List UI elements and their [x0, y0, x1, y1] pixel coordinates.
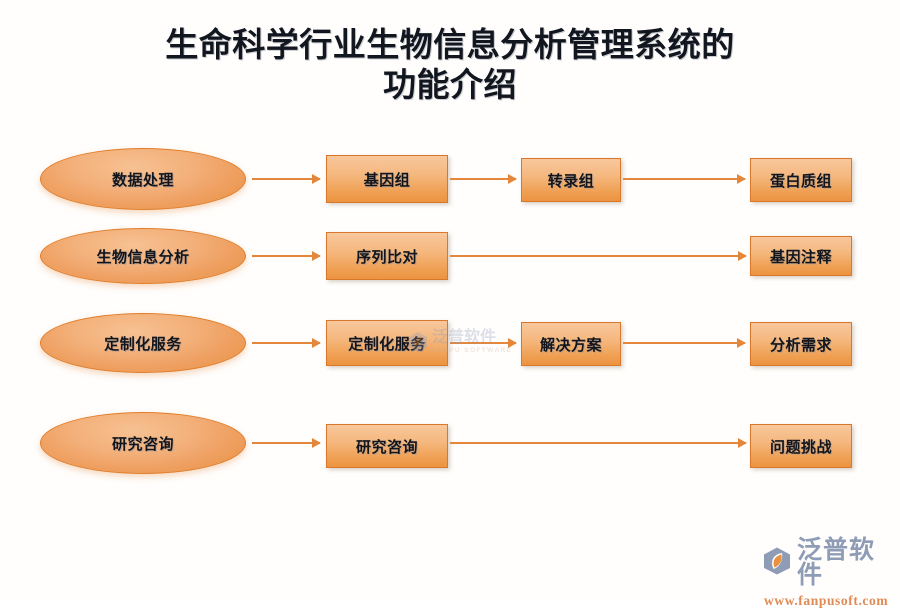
connector-row-4-b — [450, 442, 746, 444]
connector-row-3-a — [252, 342, 320, 344]
brand-logo: 泛普软件 www.fanpusoft.com — [762, 538, 900, 609]
connector-row-2-b — [450, 255, 746, 257]
category-node-row-3[interactable]: 定制化服务 — [40, 313, 246, 373]
node-label: 研究咨询 — [356, 436, 418, 457]
page-title: 生命科学行业生物信息分析管理系统的 功能介绍 — [0, 26, 900, 107]
step-node-row-4-2[interactable]: 问题挑战 — [750, 424, 852, 468]
step-node-row-3-1[interactable]: 定制化服务 — [326, 320, 448, 366]
fanpu-logo-icon — [762, 546, 792, 581]
connector-row-3-c — [623, 342, 745, 344]
connector-row-1-b — [450, 178, 516, 180]
node-label: 转录组 — [548, 170, 595, 191]
title-line-2: 功能介绍 — [0, 66, 900, 106]
step-node-row-1-1[interactable]: 基因组 — [326, 155, 448, 203]
connector-row-1-c — [623, 178, 745, 180]
node-label: 生物信息分析 — [96, 246, 189, 267]
category-node-row-2[interactable]: 生物信息分析 — [40, 228, 246, 284]
connector-row-1-a — [252, 178, 320, 180]
node-label: 分析需求 — [770, 334, 832, 355]
node-label: 研究咨询 — [112, 433, 174, 454]
connector-row-4-a — [252, 442, 320, 444]
brand-url: www.fanpusoft.com — [764, 593, 888, 609]
brand-name: 泛普软件 — [797, 538, 900, 588]
node-label: 蛋白质组 — [770, 170, 832, 191]
step-node-row-3-3[interactable]: 分析需求 — [750, 322, 852, 366]
node-label: 序列比对 — [356, 246, 418, 267]
step-node-row-1-3[interactable]: 蛋白质组 — [750, 158, 852, 202]
node-label: 基因注释 — [770, 246, 832, 267]
node-label: 问题挑战 — [770, 436, 832, 457]
step-node-row-3-2[interactable]: 解决方案 — [521, 322, 621, 366]
step-node-row-4-1[interactable]: 研究咨询 — [326, 424, 448, 468]
connector-row-2-a — [252, 255, 320, 257]
slide-canvas: 生命科学行业生物信息分析管理系统的 功能介绍 数据处理 基因组 转录组 蛋白质组… — [0, 0, 900, 600]
node-label: 定制化服务 — [348, 333, 426, 354]
node-label: 解决方案 — [540, 334, 602, 355]
node-label: 基因组 — [364, 169, 411, 190]
step-node-row-2-2[interactable]: 基因注释 — [750, 236, 852, 276]
node-label: 定制化服务 — [104, 333, 182, 354]
node-label: 数据处理 — [112, 169, 174, 190]
category-node-row-1[interactable]: 数据处理 — [40, 148, 246, 210]
title-line-1: 生命科学行业生物信息分析管理系统的 — [0, 26, 900, 66]
step-node-row-1-2[interactable]: 转录组 — [521, 158, 621, 202]
category-node-row-4[interactable]: 研究咨询 — [40, 412, 246, 474]
step-node-row-2-1[interactable]: 序列比对 — [326, 232, 448, 280]
brand-row: 泛普软件 — [762, 538, 900, 588]
connector-row-3-b — [450, 342, 516, 344]
